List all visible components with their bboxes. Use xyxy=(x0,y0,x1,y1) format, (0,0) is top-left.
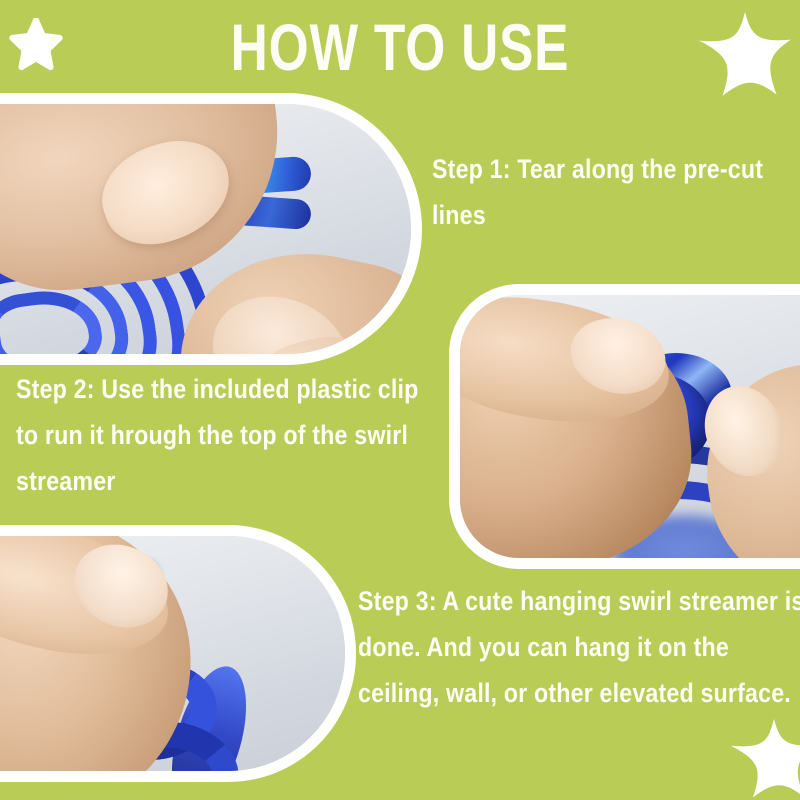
step-3-photo xyxy=(0,536,345,771)
step-3-photo-panel xyxy=(0,525,356,782)
how-to-use-infographic: HOW TO USE xyxy=(0,0,800,800)
step-2-photo xyxy=(460,295,800,558)
page-title: HOW TO USE xyxy=(88,14,712,80)
step-1-photo-panel xyxy=(0,93,422,365)
step-2-caption: Step 2: Use the included plastic clip to… xyxy=(16,366,446,504)
step-3-caption: Step 3: A cute hanging swirl streamer is… xyxy=(358,578,800,716)
step-1-caption: Step 1: Tear along the pre-cut lines xyxy=(432,146,800,238)
step-2-photo-panel xyxy=(449,284,800,569)
star-icon-top-left xyxy=(8,18,64,72)
step-1-photo xyxy=(0,104,411,354)
star-icon-bottom-right xyxy=(726,716,800,800)
